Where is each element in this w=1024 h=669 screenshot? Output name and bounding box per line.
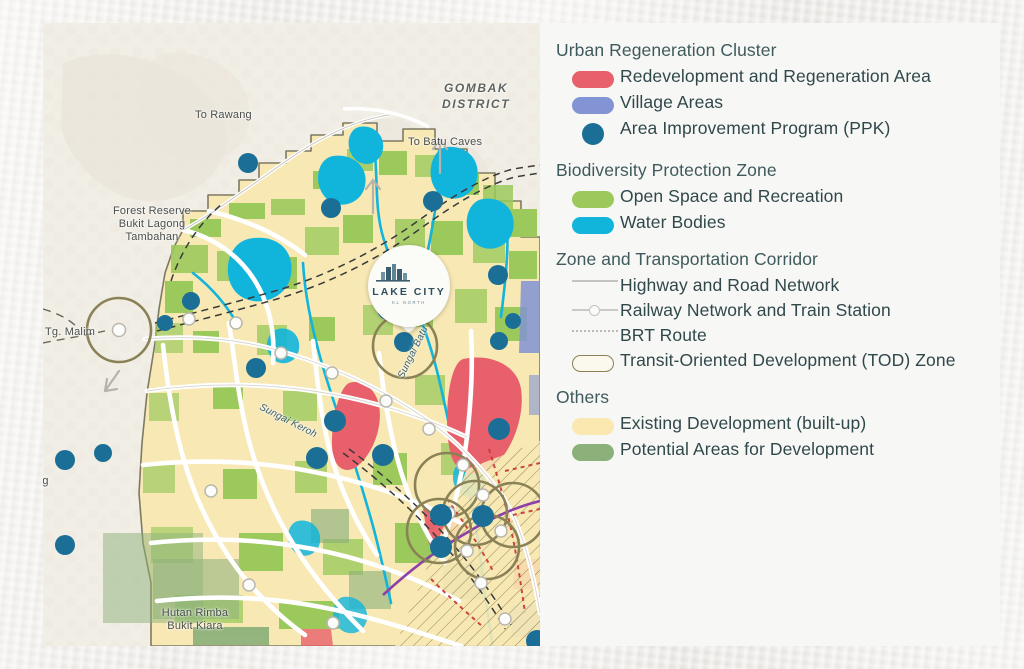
swatch-line-icon	[572, 280, 618, 282]
swatch-pill-icon	[572, 71, 614, 88]
legend-label-transit-oriented-development-tod-zone: Transit-Oriented Development (TOD) Zone	[620, 349, 956, 371]
legend-swatch-cell	[556, 274, 620, 282]
legend-swatch-cell	[556, 299, 620, 315]
swatch-dotted-line-icon	[572, 330, 618, 332]
legend-item-existing-development-built-up[interactable]: Existing Development (built-up)	[556, 412, 1000, 435]
legend-swatch-cell	[556, 91, 620, 114]
legend-label-potential-areas-for-development: Potential Areas for Development	[620, 438, 874, 460]
swatch-outline-pill-icon	[572, 355, 614, 372]
legend-item-village-areas[interactable]: Village Areas	[556, 91, 1000, 114]
legend-swatch-cell	[556, 412, 620, 435]
logo-subtitle: KL NORTH	[372, 300, 445, 305]
legend-panel: Urban Regeneration ClusterRedevelopment …	[540, 23, 1000, 646]
legend-heading-zone-and-transportation-corridor: Zone and Transportation Corridor	[556, 248, 1000, 270]
map-canvas[interactable]	[43, 23, 540, 646]
legend-label-redevelopment-and-regeneration-area: Redevelopment and Regeneration Area	[620, 65, 931, 87]
legend-label-village-areas: Village Areas	[620, 91, 723, 113]
legend-swatch-cell	[556, 324, 620, 332]
legend-label-water-bodies: Water Bodies	[620, 211, 726, 233]
logo-circle: LAKE CITY KL NORTH	[368, 245, 450, 327]
swatch-pill-icon	[572, 191, 614, 208]
legend-label-railway-network-and-train-station: Railway Network and Train Station	[620, 299, 891, 321]
legend-heading-urban-regeneration-cluster: Urban Regeneration Cluster	[556, 39, 1000, 61]
swatch-pill-icon	[572, 97, 614, 114]
legend-label-area-improvement-program-ppk: Area Improvement Program (PPK)	[620, 117, 890, 139]
swatch-pill-icon	[572, 444, 614, 461]
swatch-dot-icon	[582, 123, 604, 145]
legend-item-potential-areas-for-development[interactable]: Potential Areas for Development	[556, 438, 1000, 461]
legend-group-biodiversity-protection-zone: Biodiversity Protection ZoneOpen Space a…	[556, 159, 1000, 234]
legend-heading-biodiversity-protection-zone: Biodiversity Protection Zone	[556, 159, 1000, 181]
legend-label-open-space-and-recreation: Open Space and Recreation	[620, 185, 843, 207]
legend-item-area-improvement-program-ppk[interactable]: Area Improvement Program (PPK)	[556, 117, 1000, 145]
legend-groups: Urban Regeneration ClusterRedevelopment …	[556, 39, 1000, 461]
legend-item-water-bodies[interactable]: Water Bodies	[556, 211, 1000, 234]
legend-swatch-cell	[556, 117, 620, 145]
legend-item-railway-network-and-train-station[interactable]: Railway Network and Train Station	[556, 299, 1000, 321]
map-panel[interactable]: To Rawang GOMBAK DISTRICT To Batu Caves …	[43, 23, 540, 646]
legend-heading-others: Others	[556, 386, 1000, 408]
map-page: To Rawang GOMBAK DISTRICT To Batu Caves …	[0, 0, 1024, 669]
swatch-railway-station-icon	[572, 305, 618, 315]
legend-swatch-cell	[556, 438, 620, 461]
swatch-pill-icon	[572, 418, 614, 435]
legend-swatch-cell	[556, 349, 620, 372]
legend-group-zone-and-transportation-corridor: Zone and Transportation CorridorHighway …	[556, 248, 1000, 372]
swatch-pill-icon	[572, 217, 614, 234]
logo-name: LAKE CITY	[372, 286, 445, 298]
legend-item-open-space-and-recreation[interactable]: Open Space and Recreation	[556, 185, 1000, 208]
skyline-icon	[372, 264, 414, 284]
legend-swatch-cell	[556, 185, 620, 208]
legend-swatch-cell	[556, 211, 620, 234]
legend-item-highway-and-road-network[interactable]: Highway and Road Network	[556, 274, 1000, 296]
legend-item-brt-route[interactable]: BRT Route	[556, 324, 1000, 346]
legend-label-brt-route: BRT Route	[620, 324, 707, 346]
legend-item-redevelopment-and-regeneration-area[interactable]: Redevelopment and Regeneration Area	[556, 65, 1000, 88]
legend-swatch-cell	[556, 65, 620, 88]
legend-label-existing-development-built-up: Existing Development (built-up)	[620, 412, 866, 434]
legend-group-others: OthersExisting Development (built-up)Pot…	[556, 386, 1000, 461]
legend-group-urban-regeneration-cluster: Urban Regeneration ClusterRedevelopment …	[556, 39, 1000, 145]
legend-label-highway-and-road-network: Highway and Road Network	[620, 274, 839, 296]
legend-item-transit-oriented-development-tod-zone[interactable]: Transit-Oriented Development (TOD) Zone	[556, 349, 1000, 372]
lake-city-logo-pin[interactable]: LAKE CITY KL NORTH	[368, 245, 456, 345]
